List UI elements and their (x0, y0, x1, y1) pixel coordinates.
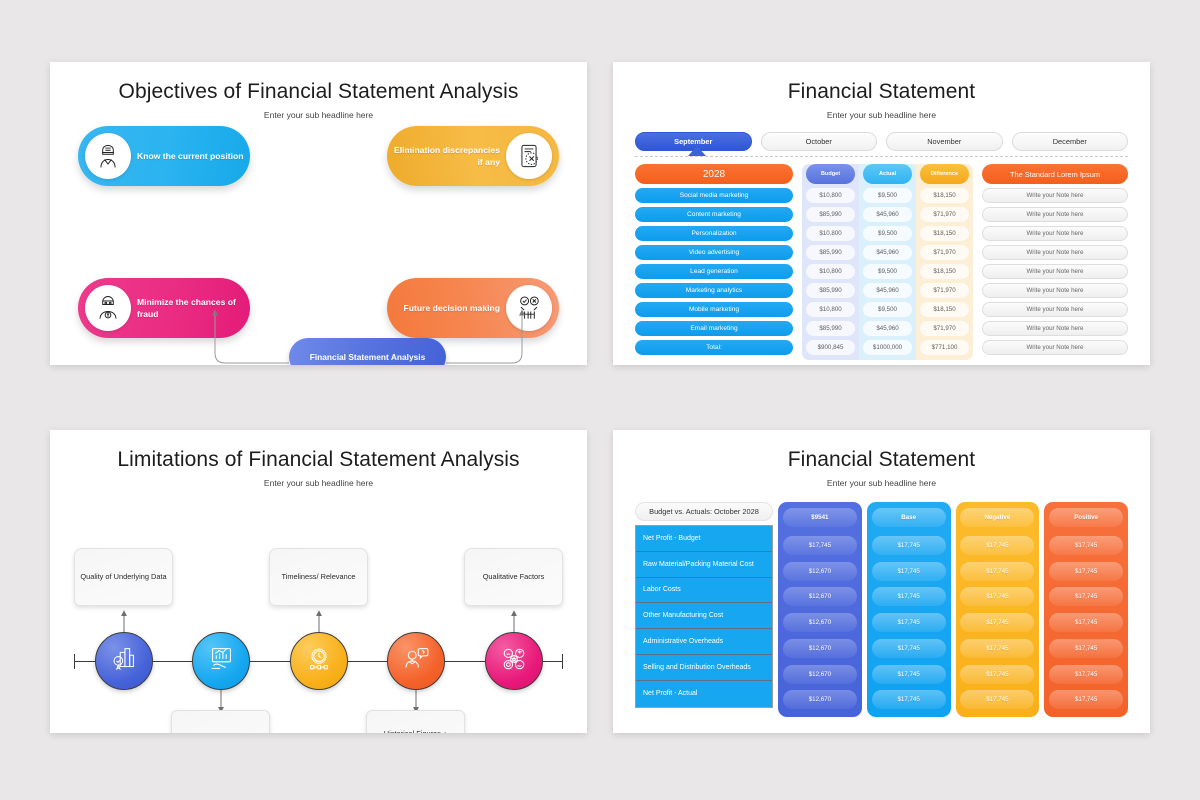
objective-label: Minimize the chances of fraud (137, 296, 250, 321)
table-cell: $17,745 (960, 587, 1034, 606)
column-header: Negative (960, 508, 1034, 527)
table-cell: $71,970 (920, 245, 969, 260)
year-header: 2028 (635, 164, 793, 184)
chart-presentation-icon (205, 643, 237, 680)
quality-grid-icon (498, 643, 530, 680)
table-cell: $9,500 (863, 188, 912, 203)
objectives-diagram: Know the current position Elimination di… (50, 120, 587, 352)
column-header-difference: Difference (920, 164, 969, 184)
column-header: Base (872, 508, 946, 527)
table-cell: $18,150 (920, 188, 969, 203)
value-column-negative: Negative $17,745 $17,745 $17,745 $17,745… (956, 502, 1040, 717)
column-header: $9541 (783, 508, 857, 527)
table-cell: $17,745 (1049, 562, 1123, 581)
timeline-node-timeliness[interactable] (290, 632, 348, 690)
page-title: Financial Statement (613, 80, 1150, 104)
page-subtitle: Enter your sub headline here (50, 478, 587, 488)
table-cell: $71,970 (920, 283, 969, 298)
timeline-node-quality[interactable] (95, 632, 153, 690)
table-cell: $17,745 (1049, 587, 1123, 606)
table-cell: $10,800 (806, 264, 855, 279)
certified-data-icon (108, 643, 140, 680)
table-row[interactable]: Net Profit - Budget (636, 526, 772, 552)
table-cell: $17,745 (872, 639, 946, 658)
table-cell: $9,500 (863, 264, 912, 279)
row-label-list: Net Profit - Budget Raw Material/Packing… (635, 525, 773, 708)
objective-label: Know the current position (137, 150, 243, 162)
value-column-base: Base $17,745 $17,745 $17,745 $17,745 $17… (867, 502, 951, 717)
column-header: Positive (1049, 508, 1123, 527)
objective-label: Future decision making (404, 302, 500, 314)
table-cell: $17,745 (783, 536, 857, 555)
table-row[interactable]: Other Manufacturing Cost (636, 603, 772, 629)
limitation-box-standalone[interactable]: Standalone Analysis (171, 710, 270, 733)
table-cell-total: $771,100 (920, 340, 969, 355)
actual-column: Actual $9,500 $45,960 $9,500 $45,960 $9,… (859, 164, 916, 360)
objective-label: Elimination discrepancies if any (387, 144, 500, 169)
page-title: Objectives of Financial Statement Analys… (50, 80, 587, 104)
table-cell: $17,745 (872, 536, 946, 555)
table-cell: $17,745 (872, 613, 946, 632)
table-cell: $9,500 (863, 302, 912, 317)
limitation-box-timeliness[interactable]: Timeliness/ Relevance (269, 548, 368, 606)
table-caption: Budget vs. Actuals: October 2028 (635, 502, 773, 521)
question-person-icon (400, 643, 432, 680)
slide-financial-statement-table[interactable]: Financial Statement Enter your sub headl… (613, 62, 1150, 365)
timeline-node-standalone[interactable] (192, 632, 250, 690)
table-cell: $17,745 (960, 690, 1034, 709)
table-cell: $12,670 (783, 562, 857, 581)
row-label-column: 2028 Social media marketing Content mark… (635, 164, 793, 360)
table-cell: $17,745 (960, 613, 1034, 632)
table-cell: $12,670 (783, 639, 857, 658)
table-cell: $45,960 (863, 207, 912, 222)
note-input[interactable]: Write your Note here (982, 302, 1128, 317)
table-cell: $17,745 (960, 562, 1034, 581)
note-input[interactable]: Write your Note here (982, 340, 1128, 355)
table-row[interactable]: Selling and Distribution Overheads (636, 655, 772, 681)
timeline-node-qualitative[interactable] (485, 632, 543, 690)
table-cell: $17,745 (872, 665, 946, 684)
table-cell: $17,745 (960, 536, 1034, 555)
slide-objectives[interactable]: Objectives of Financial Statement Analys… (50, 62, 587, 365)
table-cell: $45,960 (863, 321, 912, 336)
table-row-label[interactable]: Video advertising (635, 245, 793, 260)
table-cell: $45,960 (863, 245, 912, 260)
center-node[interactable]: Financial Statement Analysis (289, 338, 446, 365)
row-label-column: Budget vs. Actuals: October 2028 Net Pro… (635, 502, 773, 717)
table-cell: $17,745 (1049, 665, 1123, 684)
table-cell: $17,745 (1049, 639, 1123, 658)
limitation-label: Historical Figures + Assumptions = Proje… (367, 728, 464, 733)
table-row-label[interactable]: Email marketing (635, 321, 793, 336)
table-cell-total: $900,845 (806, 340, 855, 355)
difference-column: Difference $18,150 $71,970 $18,150 $71,9… (916, 164, 973, 360)
table-row-label[interactable]: Mobile marketing (635, 302, 793, 317)
table-row-label[interactable]: Lead generation (635, 264, 793, 279)
tab-divider (635, 156, 1128, 157)
document-x-icon (506, 133, 552, 179)
table-cell: $17,745 (960, 665, 1034, 684)
page-subtitle: Enter your sub headline here (50, 110, 587, 120)
timeline-node-historical[interactable] (387, 632, 445, 690)
table-cell: $17,745 (872, 562, 946, 581)
limitation-label: Qualitative Factors (483, 571, 545, 582)
table-row[interactable]: Net Profit - Actual (636, 681, 772, 707)
objective-card-know-position[interactable]: Know the current position (78, 126, 250, 186)
column-header-budget: Budget (806, 164, 855, 184)
objective-card-future-decision[interactable]: Future decision making (387, 278, 559, 338)
slide-deck: Objectives of Financial Statement Analys… (0, 0, 1200, 800)
table-cell: $71,970 (920, 207, 969, 222)
note-input[interactable]: Write your Note here (982, 321, 1128, 336)
page-subtitle: Enter your sub headline here (613, 478, 1150, 488)
table-row-label-total[interactable]: Total: (635, 340, 793, 355)
table-row[interactable]: Raw Material/Packing Material Cost (636, 552, 772, 578)
note-input[interactable]: Write your Note here (982, 283, 1128, 298)
table-cell: $17,745 (960, 639, 1034, 658)
limitation-box-historical[interactable]: Historical Figures + Assumptions = Proje… (366, 710, 465, 733)
table-cell: $12,670 (783, 690, 857, 709)
table-cell: $85,990 (806, 321, 855, 336)
notes-column-header: The Standard Lorem Ipsum (982, 164, 1128, 184)
table-cell: $17,745 (872, 587, 946, 606)
table-row-label[interactable]: Social media marketing (635, 188, 793, 203)
table-cell: $85,990 (806, 283, 855, 298)
page-title: Limitations of Financial Statement Analy… (50, 448, 587, 472)
table-row[interactable]: Labor Costs (636, 578, 772, 604)
table-cell: $12,670 (783, 665, 857, 684)
limitations-timeline: Quality of Underlying Data Standalone An… (50, 488, 587, 718)
table-row-label[interactable]: Personalization (635, 226, 793, 241)
table-row[interactable]: Administrative Overheads (636, 629, 772, 655)
note-input[interactable]: Write your Note here (982, 188, 1128, 203)
slide-budget-vs-actuals[interactable]: Financial Statement Enter your sub headl… (613, 430, 1150, 733)
value-column-positive: Positive $17,745 $17,745 $17,745 $17,745… (1044, 502, 1128, 717)
objective-card-minimize-fraud[interactable]: Minimize the chances of fraud (78, 278, 250, 338)
table-cell: $17,745 (1049, 690, 1123, 709)
table-cell: $18,150 (920, 226, 969, 241)
clock-timeline-icon (303, 643, 335, 680)
fraud-person-icon (85, 285, 131, 331)
table-cell: $10,800 (806, 302, 855, 317)
column-header-actual: Actual (863, 164, 912, 184)
note-input[interactable]: Write your Note here (982, 226, 1128, 241)
tab-october[interactable]: October (761, 132, 878, 151)
notes-column: The Standard Lorem Ipsum Write your Note… (982, 164, 1128, 360)
table-cell-total: $1000,000 (863, 340, 912, 355)
tab-december[interactable]: December (1012, 132, 1129, 151)
table-cell: $10,800 (806, 188, 855, 203)
table-cell: $85,990 (806, 207, 855, 222)
objective-card-elimination[interactable]: Elimination discrepancies if any (387, 126, 559, 186)
table-cell: $71,970 (920, 321, 969, 336)
table-cell: $10,800 (806, 226, 855, 241)
table-cell: $12,670 (783, 613, 857, 632)
limitation-box-qualitative[interactable]: Qualitative Factors (464, 548, 563, 606)
table-cell: $17,745 (1049, 613, 1123, 632)
note-input[interactable]: Write your Note here (982, 245, 1128, 260)
table-cell: $45,960 (863, 283, 912, 298)
table-cell: $17,745 (1049, 536, 1123, 555)
note-input[interactable]: Write your Note here (982, 264, 1128, 279)
active-tab-caret (688, 146, 706, 156)
table-cell: $85,990 (806, 245, 855, 260)
table-row-label[interactable]: Marketing analytics (635, 283, 793, 298)
table-cell: $18,150 (920, 302, 969, 317)
timeline-connectors (50, 488, 587, 733)
table-row-label[interactable]: Content marketing (635, 207, 793, 222)
page-title: Financial Statement (613, 448, 1150, 472)
table-cell: $18,150 (920, 264, 969, 279)
month-tabs: September October November December (635, 132, 1128, 151)
limitation-box-quality[interactable]: Quality of Underlying Data (74, 548, 173, 606)
value-column-amount: $9541 $17,745 $12,670 $12,670 $12,670 $1… (778, 502, 862, 717)
slide-limitations[interactable]: Limitations of Financial Statement Analy… (50, 430, 587, 733)
decision-icon (506, 285, 552, 331)
page-subtitle: Enter your sub headline here (613, 110, 1150, 120)
note-input[interactable]: Write your Note here (982, 207, 1128, 222)
limitation-label: Timeliness/ Relevance (281, 571, 355, 582)
budget-column: Budget $10,800 $85,990 $10,800 $85,990 $… (802, 164, 859, 360)
table-cell: $17,745 (872, 690, 946, 709)
table-cell: $9,500 (863, 226, 912, 241)
tab-november[interactable]: November (886, 132, 1003, 151)
value-columns: Budget $10,800 $85,990 $10,800 $85,990 $… (802, 164, 973, 360)
limitation-label: Quality of Underlying Data (80, 571, 166, 582)
table-cell: $12,670 (783, 587, 857, 606)
analyst-icon (85, 133, 131, 179)
